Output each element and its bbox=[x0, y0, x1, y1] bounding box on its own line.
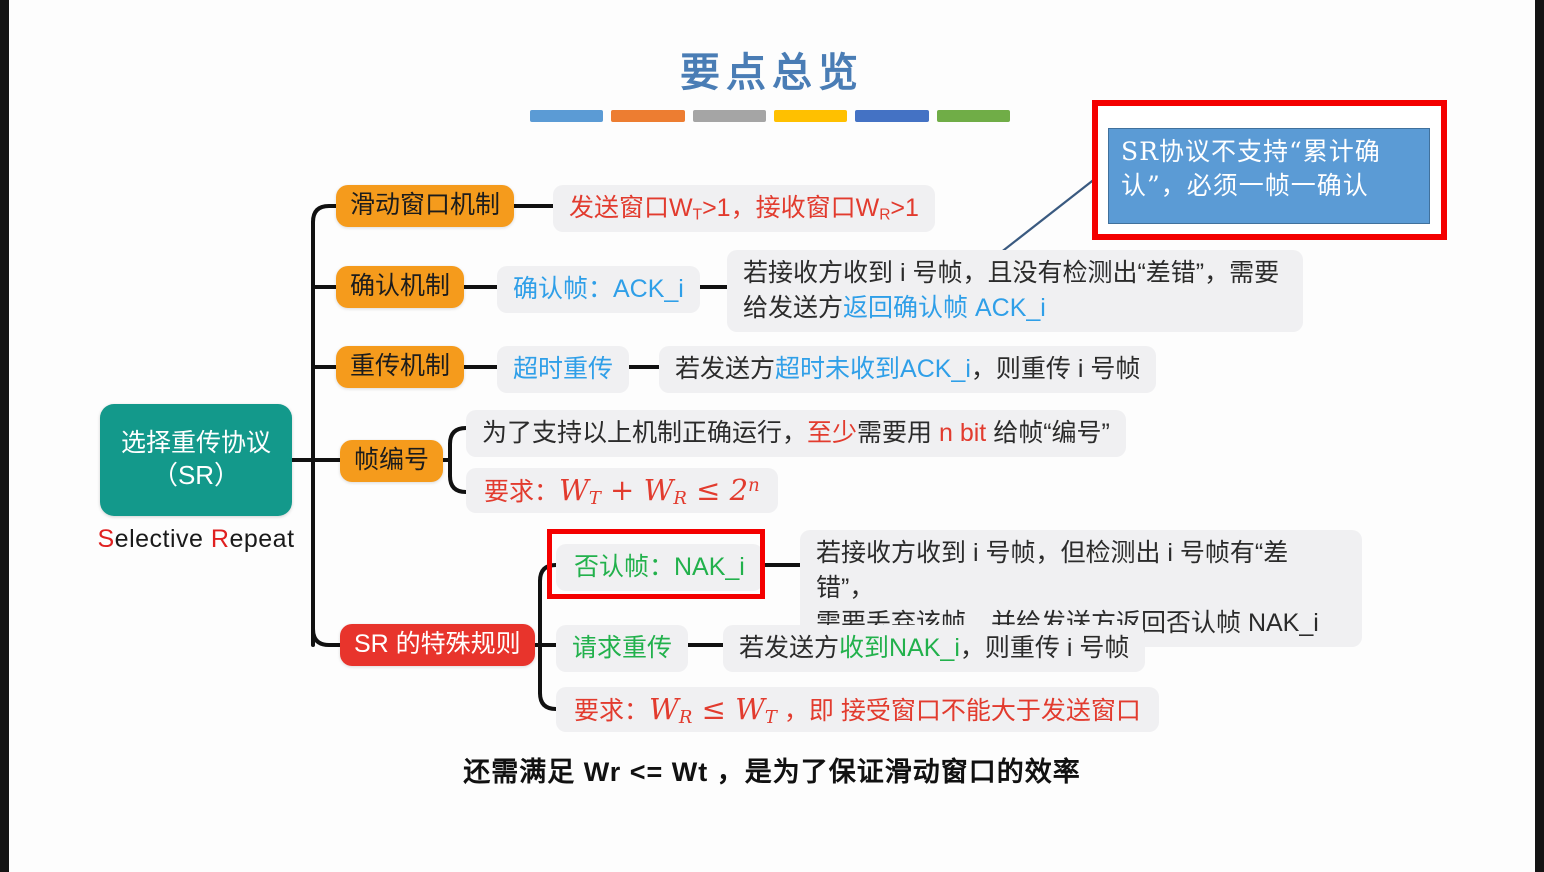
rt-detail-a: 若发送方 bbox=[675, 355, 775, 383]
mindmap-canvas: 要点总览 bbox=[0, 0, 1544, 872]
fn-req-label: 要求： bbox=[484, 478, 559, 506]
fn-req-op: + bbox=[601, 473, 644, 507]
root-subtitle-s: S bbox=[97, 525, 114, 553]
chip-ack-frame[interactable]: 确认帧：ACK_i bbox=[497, 266, 700, 313]
fn-req-rel: ≤ 2 bbox=[687, 473, 748, 507]
nak-detail-line1: 若接收方收到 i 号帧，但检测出 i 号帧有“差错”， bbox=[816, 536, 1346, 606]
chip-request-retransmit[interactable]: 请求重传 bbox=[556, 625, 688, 672]
leaf-request-retransmit-detail: 若发送方收到NAK_i，则重传 i 号帧 bbox=[723, 625, 1145, 672]
right-edge-strip bbox=[1535, 0, 1544, 872]
ack-detail-line2-b: 返回确认帧 ACK_i bbox=[843, 294, 1046, 322]
wr-trailer: ，即 接受窗口不能大于发送窗口 bbox=[777, 697, 1141, 725]
fn-d1-d: n bit bbox=[939, 419, 986, 447]
root-subtitle-r: R bbox=[211, 525, 230, 553]
chip-request-retransmit-label: 请求重传 bbox=[572, 634, 672, 662]
root-subtitle-epeat: epeat bbox=[229, 525, 294, 553]
rt-detail-c: ，则重传 i 号帧 bbox=[971, 355, 1140, 383]
node-retransmit-mechanism-label: 重传机制 bbox=[350, 351, 450, 382]
wr-sub1: R bbox=[679, 707, 693, 728]
sw-detail-mid: >1，接收窗口W bbox=[702, 194, 879, 222]
bar-yellow bbox=[774, 110, 847, 122]
bar-gray bbox=[693, 110, 766, 122]
page-title: 要点总览 bbox=[0, 40, 1544, 98]
root-label-line1: 选择重传协议 bbox=[121, 428, 271, 459]
fn-req-w1: W bbox=[559, 473, 589, 507]
bar-light-blue bbox=[530, 110, 603, 122]
fn-d1-c: 需要用 bbox=[857, 419, 939, 447]
callout-line2: 认”，必须一帧一确认 bbox=[1121, 169, 1417, 203]
root-label-line2: （SR） bbox=[152, 459, 240, 492]
redbox-nak-chip bbox=[547, 529, 765, 599]
leaf-window-rule: 要求：WR ≤ WT ，即 接受窗口不能大于发送窗口 bbox=[556, 687, 1159, 732]
chip-ack-frame-label: 确认帧：ACK_i bbox=[513, 275, 684, 303]
rr-detail-b: 收到NAK_i bbox=[839, 634, 960, 662]
node-retransmit-mechanism[interactable]: 重传机制 bbox=[336, 346, 464, 388]
bar-green bbox=[937, 110, 1010, 122]
wr-sub2: T bbox=[765, 707, 777, 728]
callout-line1: SR协议不支持“累计确 bbox=[1121, 135, 1417, 169]
root-node-selective-repeat[interactable]: 选择重传协议 （SR） bbox=[100, 404, 292, 516]
decorative-color-bars bbox=[530, 110, 1010, 122]
fn-d1-b: 至少 bbox=[807, 419, 857, 447]
node-ack-mechanism-label: 确认机制 bbox=[350, 271, 450, 302]
fn-req-sup: n bbox=[748, 475, 760, 496]
rt-detail-b: 超时未收到ACK_i bbox=[775, 355, 971, 383]
leaf-sliding-window-detail: 发送窗口WT>1，接收窗口WR>1 bbox=[553, 185, 935, 232]
fn-req-sub1: T bbox=[589, 488, 601, 509]
node-frame-number[interactable]: 帧编号 bbox=[340, 440, 443, 482]
ack-detail-line1: 若接收方收到 i 号帧，且没有检测出“差错”，需要 bbox=[743, 256, 1287, 291]
bottom-annotation-note: 还需满足 Wr <= Wt ，是为了保证滑动窗口的效率 bbox=[0, 750, 1544, 789]
node-ack-mechanism[interactable]: 确认机制 bbox=[336, 266, 464, 308]
bar-orange bbox=[611, 110, 684, 122]
fn-req-w2: W bbox=[644, 473, 674, 507]
fn-d1-a: 为了支持以上机制正确运行， bbox=[482, 419, 807, 447]
wr-w1: W bbox=[649, 692, 679, 726]
node-sliding-window-label: 滑动窗口机制 bbox=[350, 190, 500, 221]
root-subtitle-elective: elective bbox=[115, 525, 211, 553]
leaf-frame-number-detail-1: 为了支持以上机制正确运行，至少需要用 n bit 给帧“编号” bbox=[466, 410, 1126, 457]
fn-req-sub2: R bbox=[673, 488, 687, 509]
bar-blue bbox=[855, 110, 928, 122]
leaf-retransmit-detail: 若发送方超时未收到ACK_i，则重传 i 号帧 bbox=[659, 346, 1156, 393]
sw-detail-sub2: R bbox=[879, 206, 890, 223]
leaf-frame-number-requirement: 要求：WT + WR ≤ 2n bbox=[466, 468, 778, 513]
wr-label: 要求： bbox=[574, 697, 649, 725]
leaf-ack-detail: 若接收方收到 i 号帧，且没有检测出“差错”，需要 给发送方返回确认帧 ACK_… bbox=[727, 250, 1303, 332]
node-sr-special-rules-label: SR 的特殊规则 bbox=[354, 629, 521, 660]
node-sr-special-rules[interactable]: SR 的特殊规则 bbox=[340, 624, 535, 666]
wr-rel: ≤ bbox=[692, 692, 735, 726]
fn-d1-e: 给帧“编号” bbox=[986, 419, 1110, 447]
node-sliding-window-mechanism[interactable]: 滑动窗口机制 bbox=[336, 185, 514, 227]
ack-detail-line2-a: 给发送方 bbox=[743, 294, 843, 322]
chip-timeout-retransmit-label: 超时重传 bbox=[513, 355, 613, 383]
wr-w2: W bbox=[735, 692, 765, 726]
left-edge-strip bbox=[0, 0, 9, 872]
sw-detail-suffix: >1 bbox=[890, 194, 919, 222]
rr-detail-a: 若发送方 bbox=[739, 634, 839, 662]
chip-timeout-retransmit[interactable]: 超时重传 bbox=[497, 346, 629, 393]
root-subtitle-selective-repeat: Selective Repeat bbox=[92, 525, 300, 554]
rr-detail-c: ，则重传 i 号帧 bbox=[960, 634, 1129, 662]
sw-detail-prefix: 发送窗口W bbox=[569, 194, 693, 222]
node-frame-number-label: 帧编号 bbox=[354, 445, 429, 476]
callout-sr-no-cumulative-ack: SR协议不支持“累计确 认”，必须一帧一确认 bbox=[1108, 128, 1430, 224]
sw-detail-sub1: T bbox=[693, 206, 702, 223]
